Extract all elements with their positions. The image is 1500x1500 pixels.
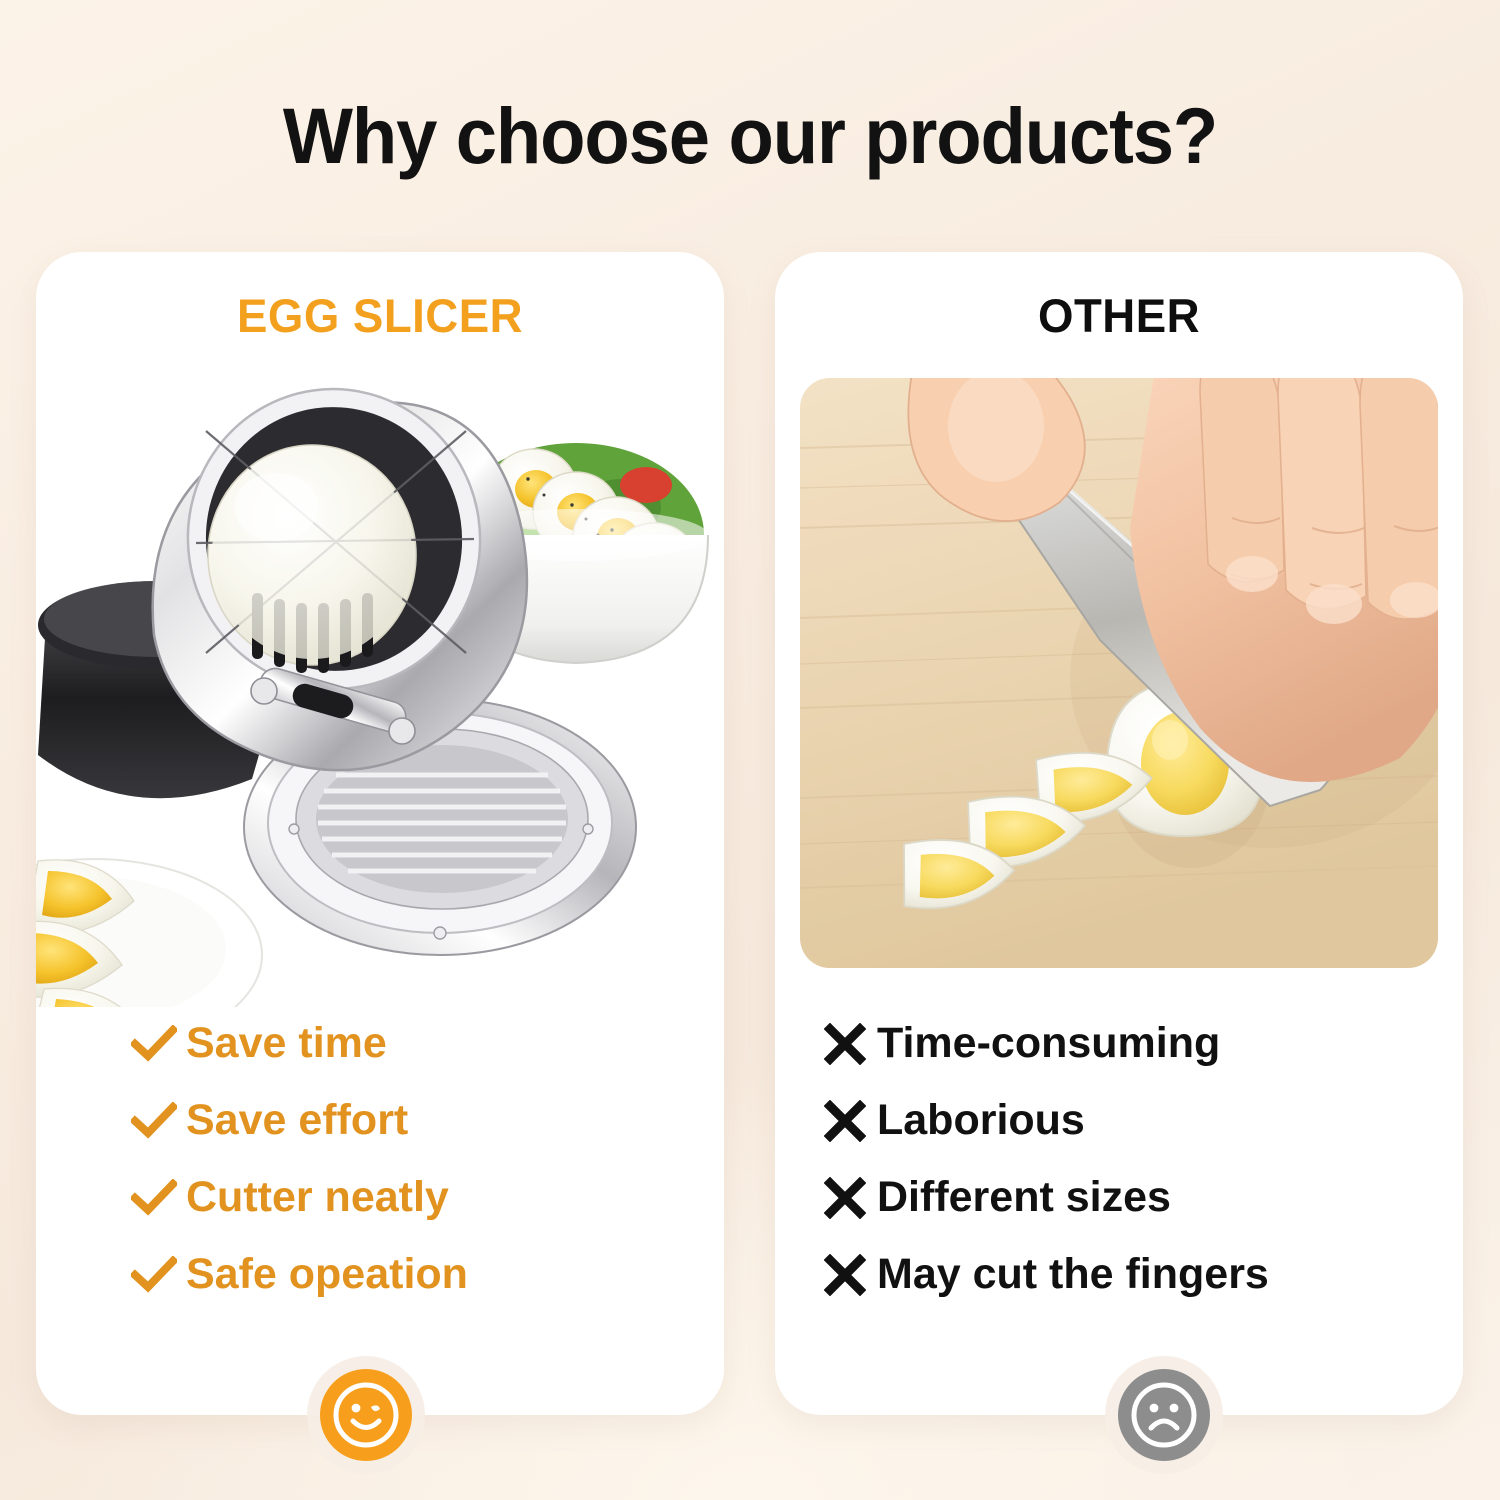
smiley-sad-icon [1118,1369,1210,1461]
cross-icon [813,1100,877,1142]
check-icon [122,1179,186,1217]
list-item: Save effort [122,1082,724,1159]
infographic-page: Why choose our products? EGG SLICER [0,0,1500,1500]
cross-icon [813,1023,877,1065]
list-item-label: Safe opeation [186,1253,468,1296]
check-icon [122,1102,186,1140]
check-icon [122,1025,186,1063]
negative-drawbacks-list: Time-consuming Laborious Different sizes… [775,1005,1463,1313]
comparison-card-positive: EGG SLICER [36,252,724,1415]
list-item: Different sizes [813,1159,1463,1236]
cross-icon [813,1254,877,1296]
egg-slicer-product-image [36,367,724,1007]
list-item-label: Laborious [877,1099,1085,1142]
list-item: Safe opeation [122,1236,724,1313]
list-item-label: Cutter neatly [186,1176,449,1219]
page-title: Why choose our products? [45,96,1455,175]
positive-benefits-list: Save time Save effort Cutter neatly Safe… [36,1005,724,1313]
list-item-label: Save time [186,1022,387,1065]
list-item: Save time [122,1005,724,1082]
list-item: Cutter neatly [122,1159,724,1236]
list-item-label: Save effort [186,1099,408,1142]
card-title-egg-slicer: EGG SLICER [46,288,713,343]
list-item-label: Time-consuming [877,1022,1220,1065]
knife-cutting-illustration [800,378,1438,968]
comparison-card-negative: OTHER [775,252,1463,1415]
list-item: May cut the fingers [813,1236,1463,1313]
check-icon [122,1256,186,1294]
egg-slicer-illustration [36,367,724,1007]
list-item: Time-consuming [813,1005,1463,1082]
knife-cutting-egg-image [800,378,1438,968]
list-item-label: May cut the fingers [877,1253,1269,1296]
cross-icon [813,1177,877,1219]
card-title-other: OTHER [785,288,1452,343]
smiley-wink-icon [320,1369,412,1461]
list-item: Laborious [813,1082,1463,1159]
list-item-label: Different sizes [877,1176,1171,1219]
